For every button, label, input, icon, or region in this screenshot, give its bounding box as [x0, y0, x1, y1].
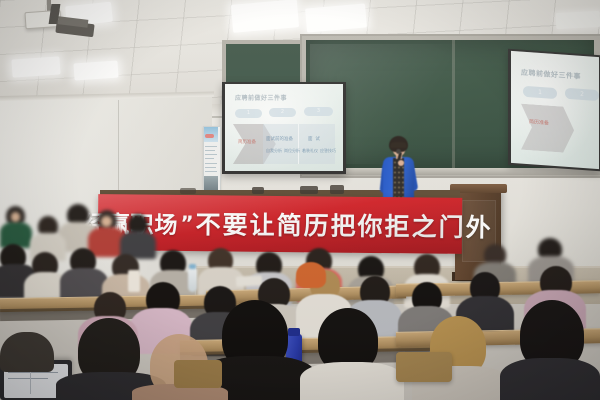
ceiling-light-panel — [556, 11, 600, 29]
poster-text-line — [205, 171, 217, 172]
slide-pill: 2 — [269, 108, 296, 117]
lecture-hall-photo: 应聘前做好三件事 1 2 简历准备 应聘前做好三件事 1 2 3 简历准备 面试… — [0, 0, 600, 400]
slide-pill-label: 1 — [523, 86, 557, 99]
desk-item — [330, 185, 344, 194]
chalkboard-divider — [452, 40, 455, 168]
slide-cell: 自我分析 — [266, 148, 282, 154]
bottle-cap-icon — [189, 264, 196, 269]
speaker-hand — [398, 160, 404, 166]
slide-cell: 应答技巧 — [320, 148, 336, 154]
tablet-content-line — [8, 372, 58, 373]
projection-screen-right: 应聘前做好三件事 1 2 简历准备 — [511, 51, 599, 169]
poster-text-line — [205, 150, 215, 151]
slide-pill-label: 2 — [565, 88, 599, 101]
bottle-cap-icon — [288, 328, 300, 336]
slide-pill: 2 — [565, 88, 599, 101]
projection-screen-left: 应聘前做好三件事 1 2 3 简历准备 面试前的准备 面 试 自我分析 岗位分析… — [225, 84, 343, 171]
poster-text-line — [205, 167, 216, 168]
ceiling-light-panel — [11, 56, 60, 77]
poster-text-line — [205, 154, 217, 155]
poster-accent-shape — [205, 134, 214, 138]
slide-pill-label: 2 — [269, 108, 296, 117]
poster-text-line — [205, 158, 214, 159]
water-bottle-clear — [188, 268, 197, 292]
slide-pill-label: 1 — [235, 109, 262, 118]
slide-pill: 1 — [235, 109, 262, 118]
slide-table-divider — [298, 124, 299, 164]
speaker-top-pattern — [393, 160, 404, 198]
desk-item — [252, 187, 264, 194]
audience-body-foreground — [500, 358, 600, 400]
audience-face — [11, 212, 20, 222]
audience-head-hood — [296, 262, 326, 288]
slide-cell: 简历准备 — [238, 139, 256, 145]
desk-item — [300, 186, 318, 194]
slide-pill: 1 — [523, 86, 557, 99]
slide-title-left: 应聘前做好三件事 — [235, 93, 287, 102]
slide-cell: 着装礼仪 — [302, 148, 318, 154]
slide-table — [263, 124, 335, 164]
slide-pill: 3 — [304, 107, 333, 116]
poster-footer-image — [204, 176, 218, 191]
slide-cell: 简历准备 — [529, 118, 549, 126]
seat-back — [396, 352, 452, 382]
slide-pill-label: 3 — [304, 107, 333, 116]
notebook — [236, 275, 262, 286]
desk-item — [180, 188, 196, 194]
audience-face — [101, 216, 112, 227]
slide-cell: 岗位分析 — [284, 148, 300, 154]
seat-back — [174, 360, 222, 388]
tablet-content-line — [8, 378, 48, 379]
slide-cell: 面 试 — [308, 136, 320, 142]
cup — [128, 270, 140, 292]
ceiling-light-panel — [231, 0, 299, 33]
poster-text-line — [205, 146, 217, 147]
poster-text-line — [205, 163, 217, 164]
audience-head-foreground — [0, 332, 54, 372]
audience-body-foreground — [300, 362, 404, 400]
speaker-fringe — [390, 142, 407, 148]
slide-cell: 面试前的准备 — [266, 136, 293, 142]
microphone-head-icon — [396, 149, 401, 154]
ceiling-light-panel — [73, 60, 118, 80]
